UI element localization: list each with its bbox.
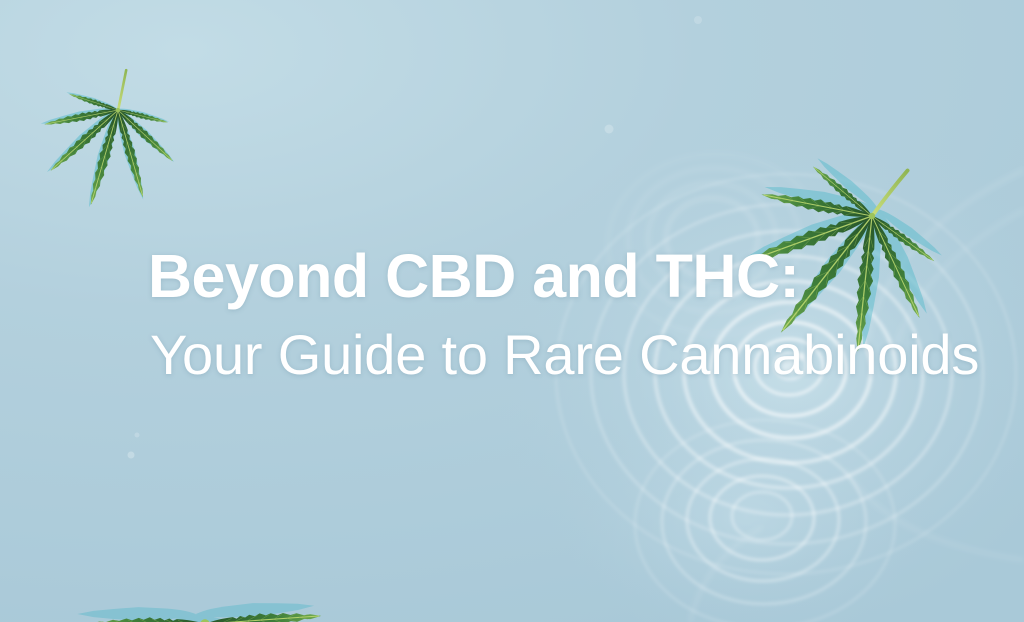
hero-banner: Beyond CBD and THC: Your Guide to Rare C… bbox=[0, 0, 1024, 622]
cannabis-leaves-layer bbox=[0, 0, 1024, 622]
cannabis-leaf-top-right bbox=[699, 107, 989, 396]
cannabis-leaf-bottom-left bbox=[37, 597, 369, 622]
cannabis-leaf-top-left bbox=[20, 52, 195, 227]
